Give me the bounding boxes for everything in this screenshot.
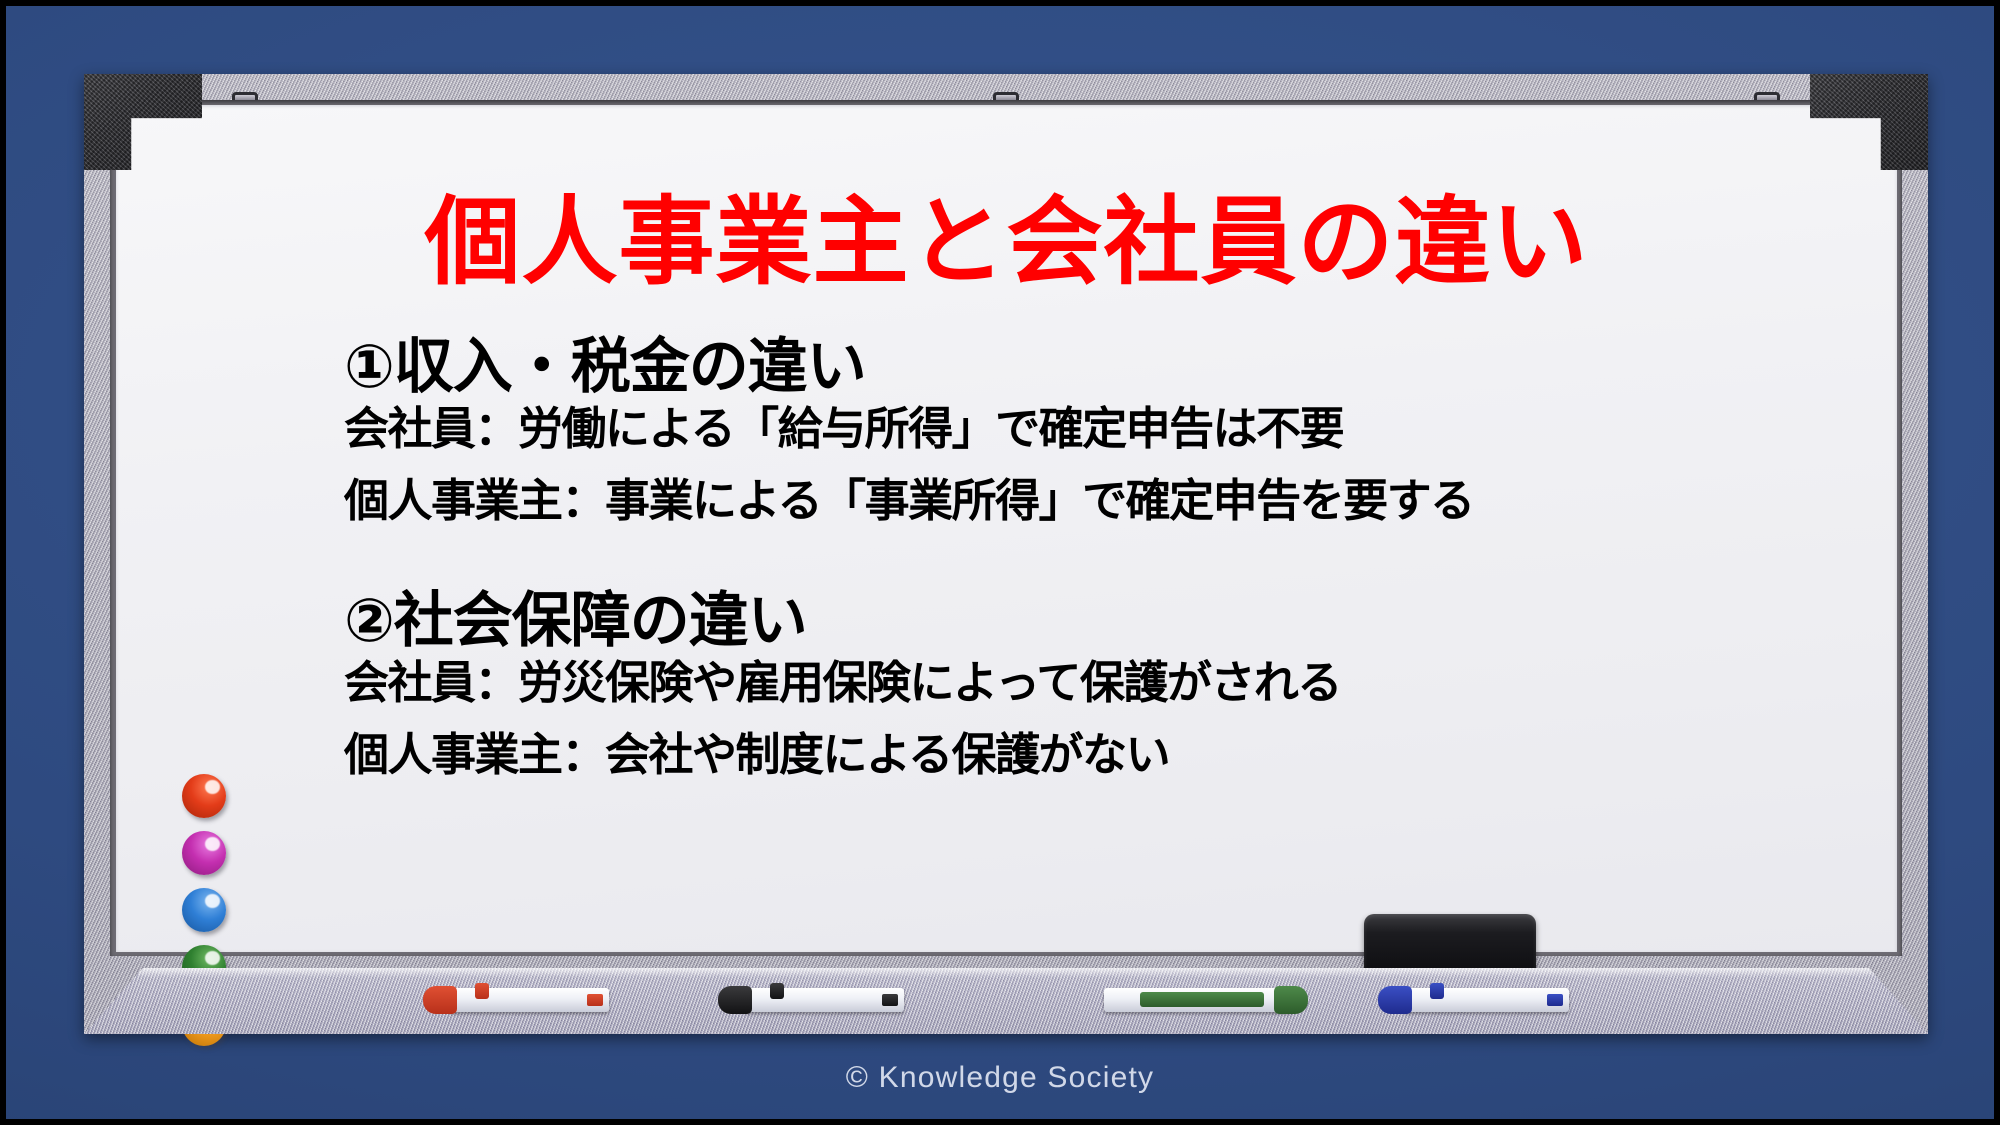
- marker-green-cap: [1274, 986, 1308, 1014]
- magnet-blue-icon: [182, 888, 226, 932]
- marker-red-icon: [449, 988, 609, 1012]
- section-heading-1: ①収入・税金の違い: [344, 335, 1819, 398]
- section-heading-2: ②社会保障の違い: [344, 589, 1819, 652]
- marker-red-cap: [423, 986, 457, 1014]
- marker-black-cap: [718, 986, 752, 1014]
- marker-tray: [84, 968, 1928, 1034]
- marker-black-icon: [744, 988, 904, 1012]
- section-2-line-2: 個人事業主：会社や制度による保護がない: [344, 730, 1819, 780]
- section-1-line-2: 個人事業主：事業による「事業所得」で確定申告を要する: [344, 476, 1819, 526]
- section-2-line-1: 会社員：労災保険や雇用保険によって保護がされる: [344, 658, 1819, 708]
- slide-title: 個人事業主と会社員の違い: [194, 173, 1819, 291]
- marker-blue-tail: [1547, 994, 1563, 1006]
- slide-canvas: 個人事業主と会社員の違い ①収入・税金の違い 会社員：労働による「給与所得」で確…: [0, 0, 2000, 1125]
- section-social-security: ②社会保障の違い 会社員：労災保険や雇用保険によって保護がされる 個人事業主：会…: [344, 589, 1819, 781]
- copyright-credit: © Knowledge Society: [6, 1061, 1994, 1095]
- slide-content: 個人事業主と会社員の違い ①収入・税金の違い 会社員：労働による「給与所得」で確…: [194, 173, 1819, 884]
- section-1-line-1: 会社員：労働による「給与所得」で確定申告は不要: [344, 404, 1819, 454]
- marker-blue-clip: [1430, 983, 1444, 999]
- marker-green-icon: [1104, 988, 1294, 1012]
- whiteboard-eraser: [1364, 914, 1536, 976]
- marker-blue-cap: [1378, 986, 1412, 1014]
- marker-green-clip: [1140, 992, 1264, 1007]
- section-income-tax: ①収入・税金の違い 会社員：労働による「給与所得」で確定申告は不要 個人事業主：…: [344, 335, 1819, 527]
- marker-black-tail: [882, 994, 898, 1006]
- marker-red-clip: [475, 983, 489, 999]
- marker-tray-lip: [84, 968, 1928, 978]
- marker-black-clip: [770, 983, 784, 999]
- marker-blue-icon: [1404, 988, 1569, 1012]
- marker-red-tail: [587, 994, 603, 1006]
- whiteboard: 個人事業主と会社員の違い ①収入・税金の違い 会社員：労働による「給与所得」で確…: [84, 74, 1928, 1034]
